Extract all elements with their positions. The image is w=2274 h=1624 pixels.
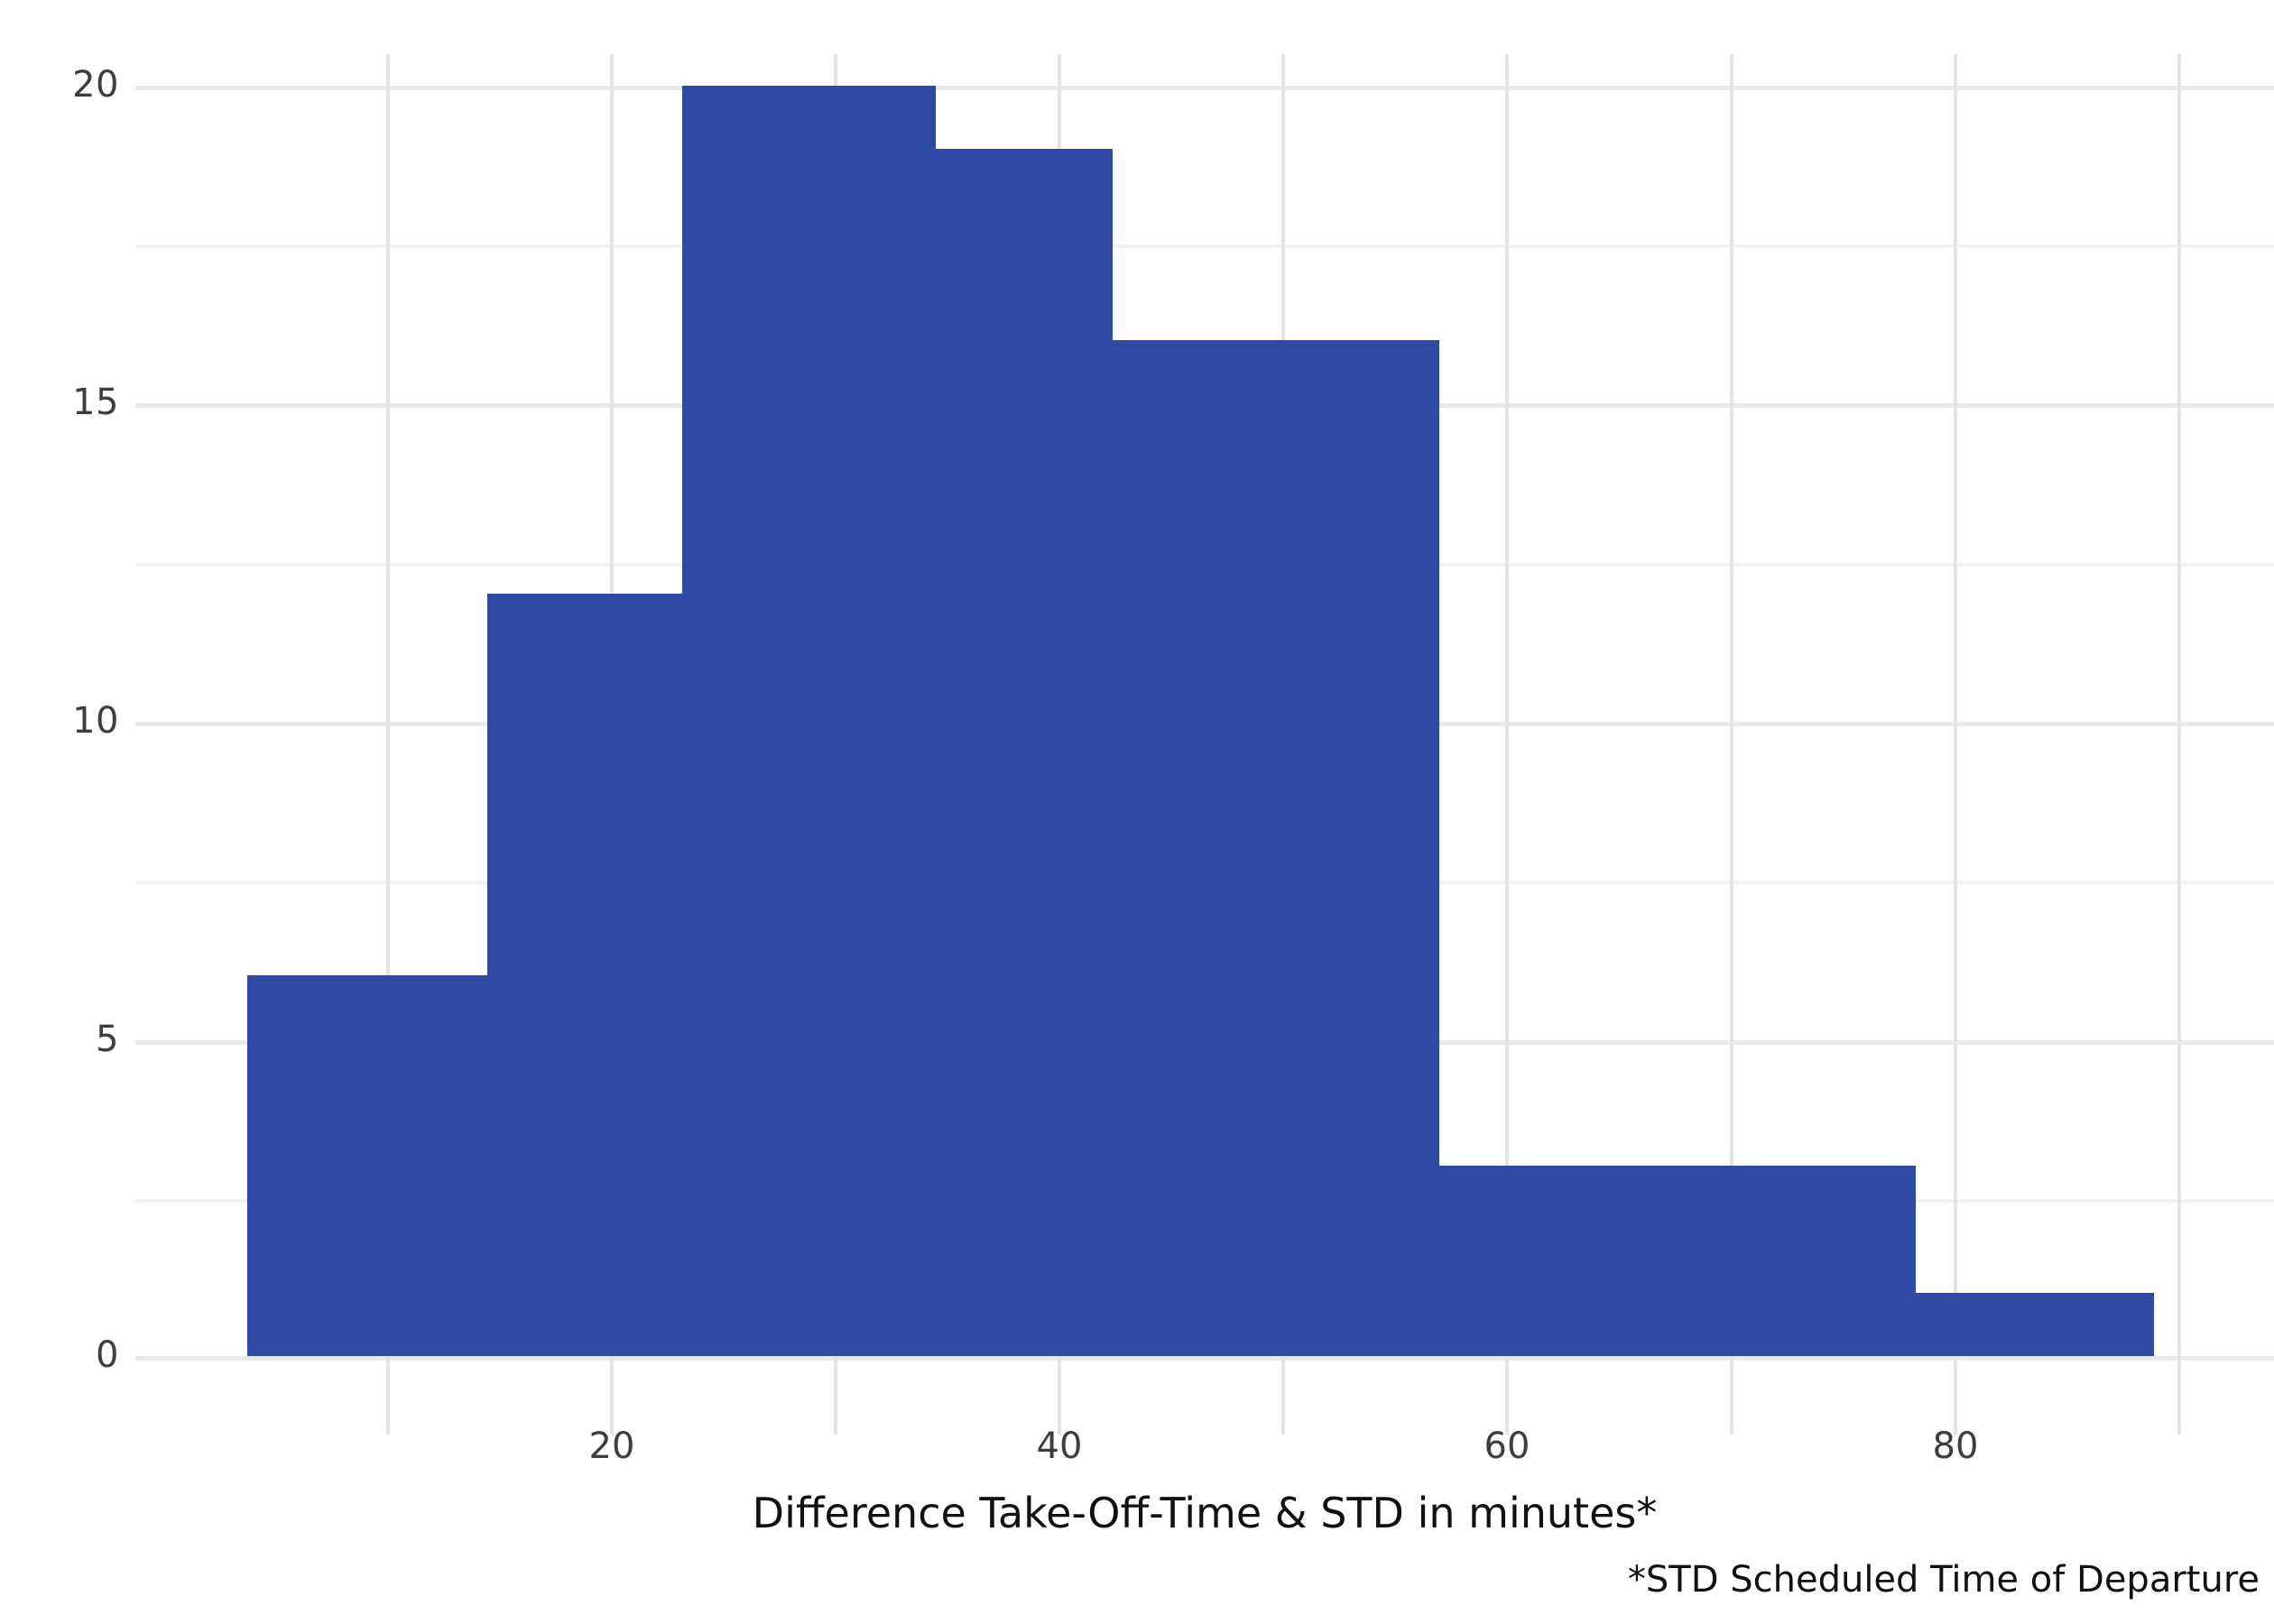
histogram-bar-5[interactable] (1113, 340, 1439, 1356)
plot-area: 20 15 10 5 0 20 40 60 80 (0, 0, 2274, 1624)
histogram-bar-7[interactable] (1916, 1293, 2154, 1356)
y-axis-title: Frequency (0, 0, 58, 1624)
gridline-x-90 (2177, 54, 2181, 1435)
footnote-text: *STD Scheduled Time of Departure (1628, 1559, 2260, 1601)
x-axis-title: Difference Take-Off-Time & STD in minute… (135, 1489, 2274, 1537)
x-tick-label-80: 80 (1933, 1426, 1979, 1467)
histogram-bar-3[interactable] (682, 86, 936, 1356)
y-tick-label-15: 15 (72, 382, 119, 423)
histogram-bar-2[interactable] (487, 594, 682, 1356)
y-tick-label-5: 5 (96, 1019, 119, 1060)
y-tick-label-0: 0 (96, 1334, 119, 1376)
x-tick-label-20: 20 (589, 1426, 635, 1467)
y-tick-label-10: 10 (72, 700, 119, 742)
x-tick-label-60: 60 (1484, 1426, 1530, 1467)
x-tick-label-40: 40 (1037, 1426, 1083, 1467)
histogram-bar-6[interactable] (1439, 1166, 1916, 1356)
histogram-bar-4[interactable] (936, 149, 1113, 1356)
y-tick-label-20: 20 (72, 64, 119, 106)
histogram-bar-1[interactable] (247, 975, 487, 1356)
chart-page: 20 15 10 5 0 20 40 60 80 Frequency Diffe… (0, 0, 2274, 1624)
gridline-x-80 (1954, 54, 1957, 1435)
